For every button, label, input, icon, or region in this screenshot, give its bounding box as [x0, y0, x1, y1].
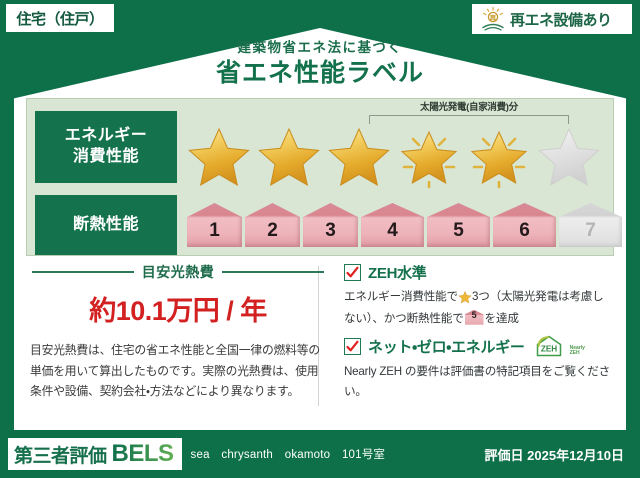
third-party-eval-label: 第三者評価: [14, 441, 107, 468]
utility-cost-value: 約10.1万円 / 年: [26, 289, 330, 328]
evaluation-date: 評価日 2025年12月10日: [485, 445, 624, 464]
star-5-solar: [465, 123, 533, 189]
badge-value: 3: [325, 220, 336, 247]
insulation-badge-6: 6: [493, 203, 556, 247]
zeh-net-zero-description: Nearly ZEH の要件は評価書の特記項目をご覧ください。: [344, 362, 614, 401]
star-3: [325, 123, 393, 189]
zeh-desc-part3: を達成: [485, 312, 519, 325]
zeh-standard-description: エネルギー消費性能で3つ（太陽光発電は考慮しない）、かつ断熱性能で5を達成: [344, 287, 614, 328]
star-6-empty: [535, 123, 603, 189]
zeh-logo-icon: ZEH: [534, 334, 564, 358]
insulation-badge-strip: 1 2 3 4 5: [177, 195, 622, 255]
title-main: 省エネ性能ラベル: [0, 58, 640, 89]
insulation-badge-3: 3: [303, 203, 358, 247]
badge-value: 5: [453, 220, 464, 247]
insulation-badge-7: 7: [559, 203, 622, 247]
badge-value: 2: [267, 220, 278, 247]
title-subtitle: 建築物省エネ法に基づく: [0, 40, 640, 56]
zeh-standard-header: ZEH水準: [344, 262, 614, 283]
utility-cost-heading-label: 目安光熱費: [142, 262, 215, 282]
renewable-energy-badge: 再 再エネ設備あり: [472, 4, 632, 34]
performance-panel: エネルギー 消費性能 太陽光発電(自家消費)分: [26, 98, 614, 256]
inline-star-icon: [458, 292, 472, 305]
heading-rule-right: [222, 271, 324, 273]
zeh-section: ZEH水準 エネルギー消費性能で3つ（太陽光発電は考慮しない）、かつ断熱性能で5…: [330, 262, 614, 410]
badge-value: 1: [209, 220, 220, 247]
energy-performance-row: エネルギー 消費性能 太陽光発電(自家消費)分: [27, 101, 615, 193]
housing-type-label: 住宅（住戸）: [16, 8, 103, 29]
zeh-net-zero-header: ネット・ゼロ・エネルギー ZEH NearlyZEH: [344, 334, 614, 358]
svg-text:ZEH: ZEH: [540, 345, 556, 354]
insulation-performance-label: 断熱性能: [35, 195, 177, 255]
solar-annotation: 太陽光発電(自家消費)分: [369, 99, 569, 124]
zeh-standard-title: ZEH水準: [368, 262, 427, 283]
star-rating: 太陽光発電(自家消費)分: [177, 101, 615, 193]
inline-insulation-badge: 5: [465, 310, 484, 325]
bels-logo-text: BELS: [112, 440, 174, 468]
check-icon: [344, 264, 361, 281]
insulation-badge-5: 5: [427, 203, 490, 247]
zeh-logo-subtext: NearlyZEH: [570, 346, 585, 359]
zeh-item-standard: ZEH水準 エネルギー消費性能で3つ（太陽光発電は考慮しない）、かつ断熱性能で5…: [344, 262, 614, 328]
energy-performance-label: 住宅（住戸） 再 再エネ設備あり 建築物省エネ法に基づく: [0, 0, 640, 478]
insulation-badge-1: 1: [187, 203, 242, 247]
housing-type-tag: 住宅（住戸）: [6, 4, 114, 32]
star-4-solar: [395, 123, 463, 189]
zeh-net-zero-title: ネット・ゼロ・エネルギー: [368, 336, 525, 357]
star-1: [185, 123, 253, 189]
bels-certification-chip: 第三者評価 BELS: [8, 438, 182, 470]
insulation-badge-2: 2: [245, 203, 300, 247]
sun-icon: 再: [480, 6, 506, 32]
property-address: sea chrysanth okamoto 101号室: [191, 446, 386, 462]
badge-value: 4: [387, 220, 398, 247]
zeh-item-net-zero: ネット・ゼロ・エネルギー ZEH NearlyZEH Nearly ZEH の要…: [344, 334, 614, 401]
page-title: 建築物省エネ法に基づく 省エネ性能ラベル: [0, 40, 640, 89]
energy-label-line1: エネルギー: [65, 126, 148, 147]
insulation-performance-row: 断熱性能 1 2 3 4: [27, 195, 615, 255]
renewable-energy-label: 再エネ設備あり: [510, 9, 612, 30]
badge-value: 7: [585, 220, 596, 247]
energy-label-line2: 消費性能: [73, 147, 139, 168]
lower-content: 目安光熱費 約10.1万円 / 年 目安光熱費は、住宅の省エネ性能と全国一律の燃…: [26, 262, 614, 410]
solar-annotation-label: 太陽光発電(自家消費)分: [369, 99, 569, 113]
utility-cost-section: 目安光熱費 約10.1万円 / 年 目安光熱費は、住宅の省エネ性能と全国一律の燃…: [26, 262, 330, 410]
heading-rule-left: [32, 271, 134, 273]
insulation-label-text: 断熱性能: [73, 215, 139, 236]
check-icon: [344, 338, 361, 355]
zeh-desc-part1: エネルギー消費性能で: [344, 290, 458, 303]
footer-bar: 第三者評価 BELS sea chrysanth okamoto 101号室 評…: [0, 430, 640, 478]
star-2: [255, 123, 323, 189]
insulation-badge-4: 4: [361, 203, 424, 247]
inline-badge-value: 5: [465, 310, 484, 325]
utility-cost-note: 目安光熱費は、住宅の省エネ性能と全国一律の燃料等の単価を用いて算出したものです。…: [26, 340, 330, 402]
star-strip: [185, 123, 603, 189]
energy-performance-label: エネルギー 消費性能: [35, 111, 177, 183]
solar-bracket: [369, 115, 569, 124]
svg-text:再: 再: [490, 14, 497, 22]
utility-cost-heading: 目安光熱費: [26, 262, 330, 282]
badge-value: 6: [519, 220, 530, 247]
